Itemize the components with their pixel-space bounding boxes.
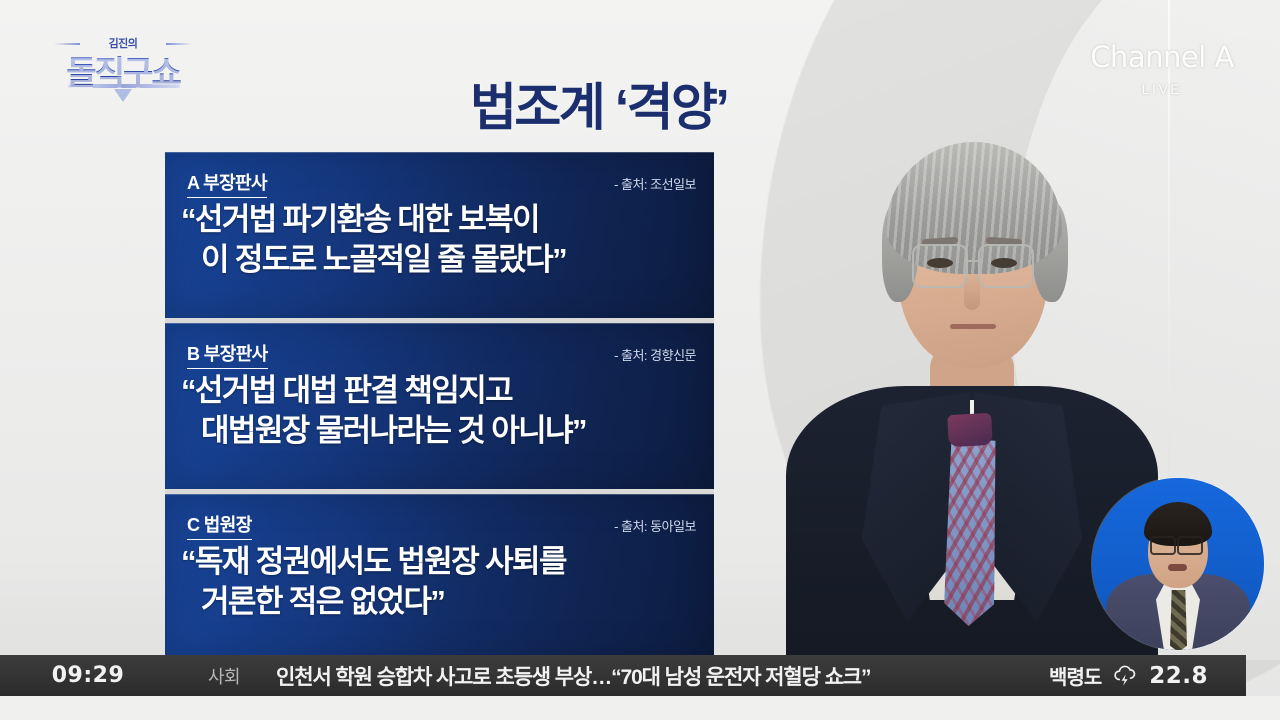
live-badge: LIVE: [1062, 81, 1262, 97]
quote-source: - 출처: 경향신문: [614, 345, 696, 364]
show-logo: 김진의 돌직구쇼: [48, 32, 198, 114]
channel-name: Channel A: [1062, 40, 1262, 74]
quote-card: A 부장판사 - 출처: 조선일보 “선거법 파기환송 대한 보복이 이 정도로…: [165, 152, 714, 318]
guest-necktie: [944, 439, 999, 626]
quote-panel-stack: A 부장판사 - 출처: 조선일보 “선거법 파기환송 대한 보복이 이 정도로…: [165, 152, 714, 660]
pip-mouth: [1168, 564, 1187, 571]
quote-line-2: 이 정도로 노골적일 줄 몰랐다”: [181, 240, 704, 280]
quote-speaker: C 법원장: [187, 511, 252, 540]
quote-text: “선거법 파기환송 대한 보복이 이 정도로 노골적일 줄 몰랐다”: [181, 200, 704, 281]
quote-source: - 출처: 조선일보: [614, 174, 696, 193]
weather-temperature: 22.8: [1149, 663, 1208, 689]
quote-line-1: “독재 정권에서도 법원장 사퇴를: [181, 544, 566, 579]
news-category: 사회: [176, 663, 272, 689]
news-headline-ticker: 인천서 학원 승합차 사고로 초등생 부상…“70대 남성 운전자 저혈당 쇼크…: [272, 661, 1049, 691]
channel-logo: Channel A LIVE: [1062, 40, 1262, 97]
quote-line-1: “선거법 대법 판결 책임지고: [181, 373, 512, 408]
quote-line-1: “선거법 파기환송 대한 보복이: [181, 202, 539, 237]
show-logo-title: 돌직구쇼: [48, 46, 198, 94]
page-title: 법조계 ‘격양’: [470, 66, 727, 140]
broadcast-screen: 김진의 돌직구쇼 Channel A LIVE 법조계 ‘격양’: [0, 0, 1280, 720]
pip-presenter-inset: [1092, 478, 1264, 650]
guest-necktie-knot: [947, 413, 993, 447]
guest-glasses-right-lens: [978, 244, 1034, 288]
quote-text: “선거법 대법 판결 책임지고 대법원장 물러나라는 것 아니냐”: [181, 371, 704, 452]
quote-card: C 법원장 - 출처: 동아일보 “독재 정권에서도 법원장 사퇴를 거론한 적…: [165, 494, 714, 660]
quote-line-2: 거론한 적은 없었다”: [181, 582, 704, 622]
pip-glasses-left-lens: [1150, 536, 1176, 555]
pip-glasses-right-lens: [1177, 536, 1203, 555]
news-ticker-bar: 09:29 사회 인천서 학원 승합차 사고로 초등생 부상…“70대 남성 운…: [0, 655, 1246, 696]
guest-glasses-left-lens: [912, 244, 968, 288]
guest-mouth: [950, 324, 996, 329]
ticker-underlay: [0, 696, 1280, 720]
thunderstorm-icon: [1112, 664, 1138, 688]
quote-speaker: A 부장판사: [187, 169, 267, 198]
weather-widget: 백령도 22.8: [1049, 661, 1246, 690]
quote-card: B 부장판사 - 출처: 경향신문 “선거법 대법 판결 책임지고 대법원장 물…: [165, 323, 714, 489]
guest-glasses-bridge: [964, 260, 978, 262]
quote-line-2: 대법원장 물러나라는 것 아니냐”: [181, 411, 704, 451]
guest-nose: [964, 276, 980, 310]
quote-source: - 출처: 동아일보: [614, 516, 696, 535]
weather-region: 백령도: [1049, 661, 1101, 690]
quote-text: “독재 정권에서도 법원장 사퇴를 거론한 적은 없었다”: [181, 542, 704, 623]
pip-necktie: [1170, 590, 1187, 650]
clock: 09:29: [0, 663, 176, 688]
quote-speaker: B 부장판사: [187, 340, 268, 369]
